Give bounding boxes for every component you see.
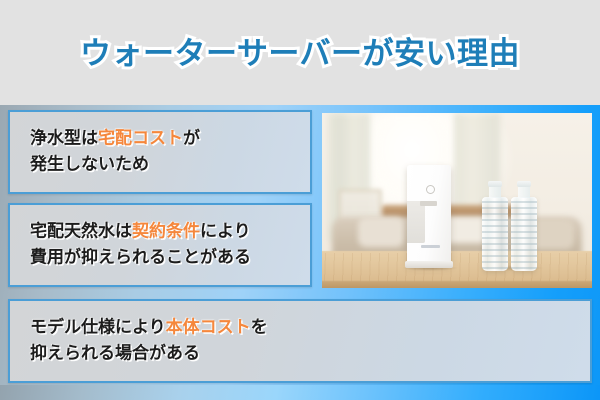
reason-box-3-line-1: モデル仕様により本体コストを: [30, 315, 582, 341]
photo-scene: [322, 113, 592, 288]
server-base: [405, 261, 453, 268]
reason-box-1-text: 浄水型は宅配コストが 発生しないため: [30, 126, 302, 179]
reason-box-1: 浄水型は宅配コストが 発生しないため: [8, 110, 312, 194]
reason-box-1-line-1-pre: 浄水型は: [30, 129, 98, 149]
server-logo: [421, 245, 440, 248]
reason-box-3: モデル仕様により本体コストを 抑えられる場合がある: [8, 299, 592, 383]
reason-box-2-text: 宅配天然水は契約条件により 費用が抑えられることがある: [30, 219, 302, 272]
reason-box-1-line-2: 発生しないため: [30, 152, 302, 178]
reason-box-2: 宅配天然水は契約条件により 費用が抑えられることがある: [8, 203, 312, 287]
bottom-blue-strip: [0, 385, 600, 400]
page-title: ウォーターサーバーが安い理由: [80, 28, 520, 73]
reason-box-1-highlight: 宅配コスト: [98, 129, 183, 149]
reason-box-3-highlight: 本体コスト: [166, 318, 251, 338]
reason-box-1-line-1-post: が: [183, 129, 200, 149]
reason-box-3-line-1-post: を: [251, 318, 268, 338]
reason-box-3-text: モデル仕様により本体コストを 抑えられる場合がある: [30, 315, 582, 368]
table-edge: [322, 281, 592, 288]
server-power-button-icon: [426, 185, 435, 194]
water-server-photo: [322, 113, 592, 288]
title-area: ウォーターサーバーが安い理由: [0, 0, 600, 105]
reason-box-2-line-2: 費用が抑えられることがある: [30, 245, 302, 271]
server-control-panel: [420, 201, 437, 206]
water-bottle-1: [482, 197, 508, 271]
reason-box-3-line-2: 抑えられる場合がある: [30, 341, 582, 367]
reason-box-2-line-1-pre: 宅配天然水は: [30, 222, 132, 242]
reason-box-1-line-1: 浄水型は宅配コストが: [30, 126, 302, 152]
reason-box-3-line-1-pre: モデル仕様により: [30, 318, 166, 338]
reason-box-2-line-1: 宅配天然水は契約条件により: [30, 219, 302, 245]
cushion-left: [358, 217, 404, 247]
server-dispenser-notch: [407, 201, 425, 243]
reason-box-2-highlight: 契約条件: [132, 222, 200, 242]
slide-root: ウォーターサーバーが安い理由: [0, 0, 600, 400]
reason-box-2-line-1-post: により: [200, 222, 251, 242]
water-bottle-2: [511, 197, 537, 271]
